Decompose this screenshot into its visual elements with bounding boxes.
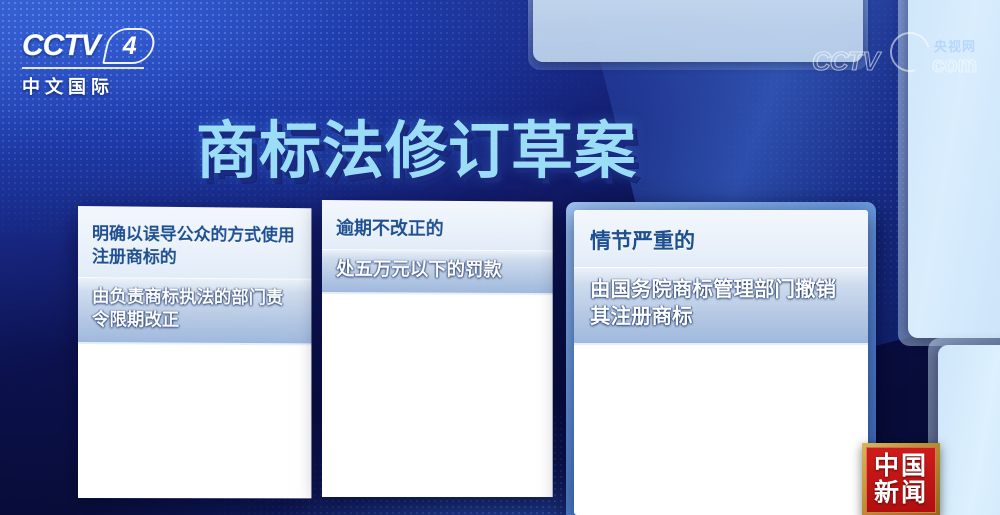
info-card-2-band-text: 处五万元以下的罚款: [336, 257, 539, 283]
info-card-3: 情节严重的 由国务院商标管理部门撤销其注册商标: [574, 210, 868, 515]
programme-bug: 中国 新闻: [862, 443, 940, 515]
programme-bug-inner: 中国 新闻: [866, 447, 936, 513]
info-card-1-band: 由负责商标执法的部门责令限期改正: [78, 277, 311, 345]
channel-number-badge: 4: [106, 28, 154, 64]
logo-row: CCTV 4: [22, 28, 154, 64]
info-card-3-head-text: 情节严重的: [590, 228, 852, 257]
cctv-com-watermark: CCTV 央视网 com: [812, 30, 992, 82]
info-card-2: 逾期不改正的 处五万元以下的罚款: [322, 200, 553, 497]
watermark-cctv-text: CCTV: [812, 46, 879, 77]
channel-name: 中文国际: [22, 67, 144, 99]
programme-bug-line-2: 新闻: [874, 480, 928, 507]
watermark-ring-icon: [883, 25, 938, 80]
info-card-3-head: 情节严重的: [574, 210, 868, 267]
info-card-1-head: 明确以误导公众的方式使用注册商标的: [78, 206, 311, 279]
programme-bug-line-1: 中国: [874, 453, 928, 480]
watermark-com-text: com: [932, 52, 977, 78]
channel-number: 4: [106, 28, 154, 64]
info-card-2-head-text: 逾期不改正的: [336, 216, 539, 242]
info-card-2-band: 处五万元以下的罚款: [322, 249, 553, 295]
info-card-1-band-text: 由负责商标执法的部门责令限期改正: [92, 285, 298, 333]
info-card-3-band-text: 由国务院商标管理部门撤销其注册商标: [590, 276, 852, 331]
decor-panel-right-lower: [938, 345, 1000, 515]
info-card-2-head: 逾期不改正的: [322, 200, 553, 250]
cctv4-logo: CCTV 4 中文国际: [22, 28, 154, 99]
headline-title: 商标法修订草案: [196, 100, 637, 190]
info-card-1-head-text: 明确以误导公众的方式使用注册商标的: [92, 222, 298, 271]
info-card-3-band: 由国务院商标管理部门撤销其注册商标: [574, 267, 868, 345]
info-card-1: 明确以误导公众的方式使用注册商标的 由负责商标执法的部门责令限期改正: [78, 206, 311, 498]
cctv-wordmark: CCTV: [22, 29, 100, 63]
broadcast-screen: CCTV 4 中文国际 CCTV 央视网 com 商标法修订草案 明确以误导公众…: [0, 0, 1000, 515]
